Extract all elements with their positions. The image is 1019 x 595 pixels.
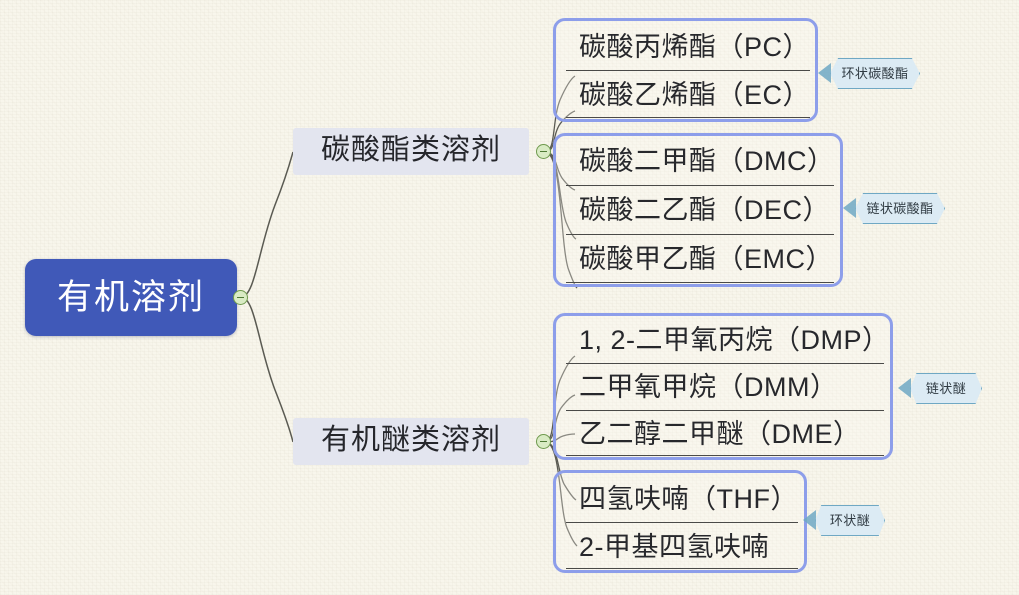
leaf-node-label: 1, 2-二甲氧丙烷（DMP）	[579, 327, 890, 354]
callout-tag-chain-ether[interactable]: 链状醚	[910, 373, 982, 404]
callout-tag-label: 链状碳酸酯	[866, 202, 933, 215]
leaf-node[interactable]: 二甲氧甲烷（DMM）	[562, 365, 887, 410]
leaf-underline	[566, 522, 798, 523]
mindmap-canvas: 有机溶剂 碳酸酯类溶剂 有机醚类溶剂 碳酸丙烯酯（PC） 碳酸乙烯酯（EC） 环…	[0, 0, 1019, 595]
leaf-node[interactable]: 碳酸甲乙酯（EMC）	[562, 236, 837, 283]
leaf-node-label: 乙二醇二甲醚（DME）	[579, 421, 861, 448]
callout-tag-label: 链状醚	[926, 382, 966, 395]
leaf-node[interactable]: 1, 2-二甲氧丙烷（DMP）	[562, 318, 887, 363]
leaf-node[interactable]: 四氢呋喃（THF）	[562, 476, 802, 522]
callout-tag-cyclic-carbonate[interactable]: 环状碳酸酯	[830, 58, 920, 89]
callout-tag-label: 环状醚	[830, 514, 870, 527]
leaf-underline	[566, 410, 884, 411]
callout-leader-icon	[898, 378, 911, 398]
callout-tag-label: 环状碳酸酯	[841, 67, 908, 80]
branch-node-ether[interactable]: 有机醚类溶剂	[293, 418, 529, 465]
callout-leader-icon	[843, 198, 856, 218]
leaf-node[interactable]: 2-甲基四氢呋喃	[562, 524, 802, 570]
callout-leader-icon	[803, 510, 816, 530]
leaf-underline	[566, 117, 810, 118]
leaf-node[interactable]: 乙二醇二甲醚（DME）	[562, 412, 887, 457]
carbonate-collapse-toggle-icon[interactable]	[536, 144, 551, 159]
leaf-underline	[566, 234, 834, 235]
leaf-node-label: 四氢呋喃（THF）	[579, 486, 798, 513]
ether-collapse-toggle-icon[interactable]	[536, 434, 551, 449]
leaf-underline	[566, 568, 798, 569]
root-collapse-toggle-icon[interactable]	[233, 290, 248, 305]
leaf-node[interactable]: 碳酸二甲酯（DMC）	[562, 138, 837, 185]
callout-tag-chain-carbonate[interactable]: 链状碳酸酯	[855, 193, 945, 224]
leaf-node-label: 碳酸二乙酯（DEC）	[579, 197, 830, 224]
leaf-node-label: 碳酸乙烯酯（EC）	[579, 82, 810, 109]
callout-leader-icon	[818, 63, 831, 83]
leaf-node[interactable]: 碳酸丙烯酯（PC）	[562, 24, 812, 70]
root-node-label: 有机溶剂	[57, 280, 205, 315]
leaf-underline	[566, 185, 834, 186]
branch-node-carbonate-label: 碳酸酯类溶剂	[321, 136, 501, 165]
leaf-underline	[566, 363, 884, 364]
leaf-node[interactable]: 碳酸乙烯酯（EC）	[562, 72, 812, 118]
branch-node-ether-label: 有机醚类溶剂	[321, 426, 501, 455]
leaf-underline	[566, 455, 884, 456]
branch-node-carbonate[interactable]: 碳酸酯类溶剂	[293, 128, 529, 175]
leaf-node-label: 碳酸二甲酯（DMC）	[579, 148, 835, 175]
leaf-node[interactable]: 碳酸二乙酯（DEC）	[562, 187, 837, 234]
callout-tag-cyclic-ether[interactable]: 环状醚	[815, 505, 885, 536]
leaf-node-label: 2-甲基四氢呋喃	[579, 534, 769, 561]
leaf-node-label: 二甲氧甲烷（DMM）	[579, 374, 837, 401]
leaf-underline	[566, 282, 834, 283]
leaf-node-label: 碳酸丙烯酯（PC）	[579, 34, 810, 61]
leaf-node-label: 碳酸甲乙酯（EMC）	[579, 246, 833, 273]
leaf-underline	[566, 70, 810, 71]
root-node[interactable]: 有机溶剂	[25, 259, 237, 336]
